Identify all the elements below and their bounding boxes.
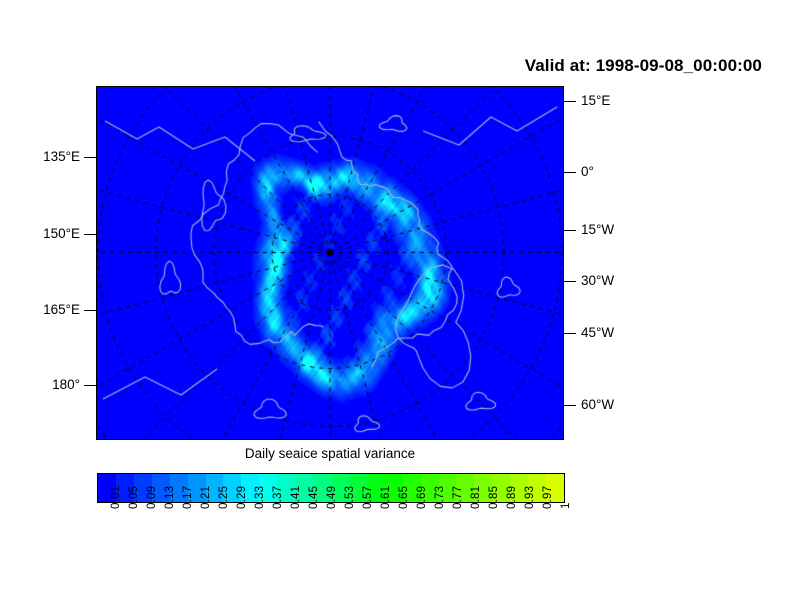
left-axis-label: 150°E [43,227,80,241]
right-axis-tick [564,101,576,102]
colorbar-tick-label: 0.89 [507,486,519,509]
colorbar-tick-label: 0.13 [165,486,177,509]
left-axis-tick [84,234,96,235]
colorbar-tick-label: 0.57 [363,486,375,509]
colorbar-tick-label: 0.65 [399,486,411,509]
colorbar-tick-label: 0.61 [381,486,393,509]
colorbar-tick-label: 0.45 [309,486,321,509]
left-axis-tick [84,310,96,311]
left-axis-label: 165°E [43,303,80,317]
colorbar-tick-label: 0.33 [255,486,267,509]
left-axis-tick [84,157,96,158]
right-axis-label: 15°W [581,223,614,237]
right-axis-tick [564,230,576,231]
right-axis-tick [564,405,576,406]
colorbar-tick-label: 0.09 [147,486,159,509]
right-axis-label: 30°W [581,274,614,288]
right-axis-label: 0° [581,165,594,179]
colorbar-tick-label: 0.93 [525,486,537,509]
colorbar-tick-label: 0.01 [111,486,123,509]
colorbar-tick-label: 0.37 [273,486,285,509]
colorbar-tick-label: 0.81 [471,486,483,509]
map-plot-area [96,86,564,440]
colorbar-caption: Daily seaice spatial variance [96,446,564,461]
left-axis-label: 180° [52,378,80,392]
colorbar-tick-label: 0.49 [327,486,339,509]
left-axis-tick [84,385,96,386]
right-axis-label: 15°E [581,94,610,108]
right-axis-tick [564,281,576,282]
colorbar-tick-label: 0.25 [219,486,231,509]
colorbar-tick-label: 0.17 [183,486,195,509]
colorbar-tick-label: 0.29 [237,486,249,509]
right-axis-tick [564,333,576,334]
colorbar-tick-label: 0.73 [435,486,447,509]
colorbar-tick-label: 0.77 [453,486,465,509]
colorbar-tick-label: 0.53 [345,486,357,509]
left-axis-label: 135°E [43,150,80,164]
right-axis-tick [564,172,576,173]
colorbar-tick-label: 0.05 [129,486,141,509]
colorbar-tick-label: 1 [561,502,573,509]
colorbar-tick-label: 0.85 [489,486,501,509]
colorbar-tick-label: 0.69 [417,486,429,509]
colorbar-tick-label: 0.41 [291,486,303,509]
colorbar-tick-label: 0.97 [543,486,555,509]
right-axis-label: 45°W [581,326,614,340]
colorbar-tick-label: 0.21 [201,486,213,509]
right-axis-label: 60°W [581,398,614,412]
seaice-variance-map [97,87,563,439]
plot-title: Valid at: 1998-09-08_00:00:00 [0,56,762,76]
